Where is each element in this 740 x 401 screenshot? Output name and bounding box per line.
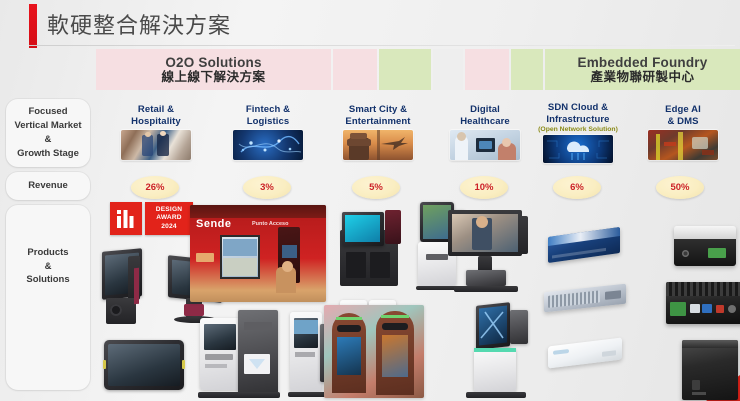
product-edge-tower-pc: [682, 340, 738, 400]
banner-embedded-title-zh: 產業物聯研製中心: [578, 70, 708, 84]
banner-band-row: O2O Solutions 線上線下解決方案 Embedded Foundry …: [0, 49, 740, 90]
column-head-smart-city-entertainment: Smart City & Entertainment: [330, 104, 426, 160]
band-segment-0: O2O Solutions 線上線下解決方案: [96, 49, 331, 90]
thumb-fintech-network-graphic: [233, 130, 303, 160]
column-title-sdn-cloud-infrastructure: SDN Cloud & Infrastructure: [530, 102, 626, 126]
column-title-edge-ai-dms: Edge AI & DMS: [640, 104, 726, 128]
product-atm-teller-machine: [200, 310, 280, 398]
if-design-award-badge: DESIGN AWARD 2024: [110, 202, 193, 235]
column-title-retail-hospitality: Retail & Hospitality: [110, 104, 202, 128]
thumb-factory-automation-photo: [648, 130, 718, 160]
sidebar-item-revenue: Revenue: [6, 172, 90, 200]
revenue-badge-fintech-logistics: 3%: [243, 176, 291, 199]
product-embedded-box-finned: [666, 282, 740, 324]
column-head-fintech-logistics: Fintech & Logistics: [222, 104, 314, 160]
column-title-digital-healthcare: Digital Healthcare: [440, 104, 530, 128]
column-title-fintech-logistics: Fintech & Logistics: [222, 104, 314, 128]
title-divider: [29, 45, 735, 46]
banner-embedded-title-en: Embedded Foundry: [578, 55, 708, 71]
sidebar-item-focused-vertical-market: Focused Vertical Market & Growth Stage: [6, 99, 90, 167]
banner-o2o-title-zh: 線上線下解決方案: [161, 70, 265, 84]
thumb-airport-luggage-photo: [343, 130, 413, 160]
if-logo-icon: [110, 202, 142, 235]
thumb-retail-store-photo: [121, 130, 191, 160]
column-head-sdn-cloud-infrastructure: SDN Cloud & Infrastructure (Open Network…: [530, 102, 626, 163]
title-accent-bar: [29, 4, 37, 48]
product-healthcare-checkin-kiosk: [448, 304, 534, 399]
band-segment-4: [465, 49, 509, 90]
revenue-badge-smart-city-entertainment: 5%: [352, 176, 400, 199]
band-segment-1: [333, 49, 377, 90]
thumb-doctor-patient-photo: [450, 130, 520, 160]
thumb-cloud-network-graphic: [543, 135, 613, 163]
product-embedded-box-silver: [674, 226, 736, 266]
banner-o2o-title-en: O2O Solutions: [161, 55, 265, 71]
products-area: DESIGN AWARD 2024: [96, 200, 740, 401]
product-retail-tablet: [104, 340, 184, 392]
column-head-edge-ai-dms: Edge AI & DMS: [640, 104, 726, 160]
revenue-badge-sdn-cloud-infrastructure: 6%: [553, 176, 601, 199]
revenue-badge-edge-ai-dms: 50%: [656, 176, 704, 199]
page-title: 軟硬整合解決方案: [47, 8, 231, 40]
if-award-line1: DESIGN: [156, 206, 182, 214]
band-segment-5: [511, 49, 543, 90]
column-head-retail-hospitality: Retail & Hospitality: [110, 104, 202, 160]
if-award-line2: AWARD: [156, 214, 182, 222]
sidebar-label-revenue: Revenue: [28, 179, 68, 193]
band-segment-3: [433, 49, 463, 90]
photo-face-recognition-panels: [324, 305, 424, 398]
kiosk-brand-label: Sende: [196, 218, 232, 230]
product-vending-kiosk-dark: [340, 208, 406, 290]
column-head-digital-healthcare: Digital Healthcare: [440, 104, 530, 160]
product-rackmount-server-silver: [544, 284, 626, 313]
product-healthcare-display-cart: [448, 210, 540, 298]
revenue-badge-retail-hospitality: 26%: [131, 176, 179, 199]
sidebar-item-products-solutions: Products & Solutions: [6, 205, 90, 390]
column-subtitle-open-network-solution: (Open Network Solution): [530, 126, 626, 133]
band-segment-6: Embedded Foundry 產業物聯研製中心: [545, 49, 740, 90]
product-network-appliance-white: [548, 337, 622, 368]
sidebar-label-focused: Focused Vertical Market & Growth Stage: [14, 105, 81, 160]
if-award-text: DESIGN AWARD 2024: [145, 202, 193, 235]
slide-root: 軟硬整合解決方案 O2O Solutions 線上線下解決方案 Embedded…: [0, 0, 740, 401]
photo-bank-branch-kiosk: Sende Punto Acceso: [190, 205, 326, 302]
revenue-badge-digital-healthcare: 10%: [460, 176, 508, 199]
column-title-smart-city-entertainment: Smart City & Entertainment: [330, 104, 426, 128]
product-pos-terminal-dual-left: [102, 250, 160, 325]
if-award-line3: 2024: [161, 223, 176, 231]
sidebar-label-products: Products & Solutions: [26, 246, 69, 287]
band-segment-2: [379, 49, 431, 90]
product-network-appliance-blue: [548, 227, 620, 263]
